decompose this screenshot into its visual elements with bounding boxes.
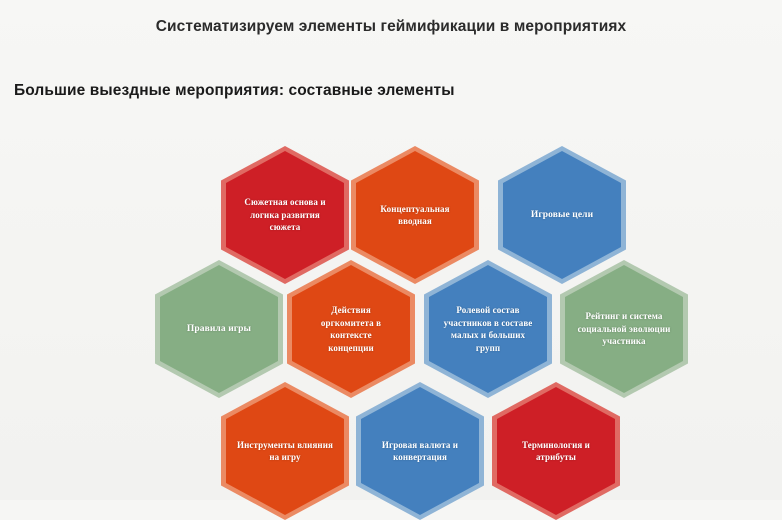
- hex-cell-7[interactable]: Рейтинг и система социальной эволюции уч…: [560, 260, 688, 398]
- hex-cell-6[interactable]: Ролевой состав участников в составе малы…: [424, 260, 552, 398]
- slide-canvas: Систематизируем элементы геймификации в …: [0, 0, 782, 500]
- hex-cell-3[interactable]: Игровые цели: [498, 146, 626, 284]
- hex-cell-10[interactable]: Терминология и атрибуты: [492, 382, 620, 520]
- hex-cell-8[interactable]: Инструменты влияния на игру: [221, 382, 349, 520]
- hex-cell-1[interactable]: Сюжетная основа и логика развития сюжета: [221, 146, 349, 284]
- hex-cell-9-label: Игровая валюта и конвертация: [370, 439, 470, 464]
- hex-cell-3-label: Игровые цели: [510, 209, 614, 222]
- hex-cell-4[interactable]: Правила игры: [155, 260, 283, 398]
- hex-cell-1-label: Сюжетная основа и логика развития сюжета: [243, 196, 327, 234]
- hex-cell-5[interactable]: Действия оргкомитета в контексте концепц…: [287, 260, 415, 398]
- hex-cell-7-label: Рейтинг и система социальной эволюции уч…: [574, 310, 674, 348]
- hex-cell-8-label: Инструменты влияния на игру: [235, 439, 335, 464]
- hex-cell-2-label: Концептуальная вводная: [365, 203, 465, 228]
- hex-cell-10-label: Терминология и атрибуты: [506, 439, 606, 464]
- hex-cell-9[interactable]: Игровая валюта и конвертация: [356, 382, 484, 520]
- hex-cell-6-label: Ролевой состав участников в составе малы…: [438, 304, 538, 354]
- hex-cell-2[interactable]: Концептуальная вводная: [351, 146, 479, 284]
- hex-cell-5-label: Действия оргкомитета в контексте концепц…: [309, 304, 393, 354]
- honeycomb-diagram: Сюжетная основа и логика развития сюжета…: [0, 0, 782, 500]
- hex-cell-4-label: Правила игры: [167, 323, 271, 336]
